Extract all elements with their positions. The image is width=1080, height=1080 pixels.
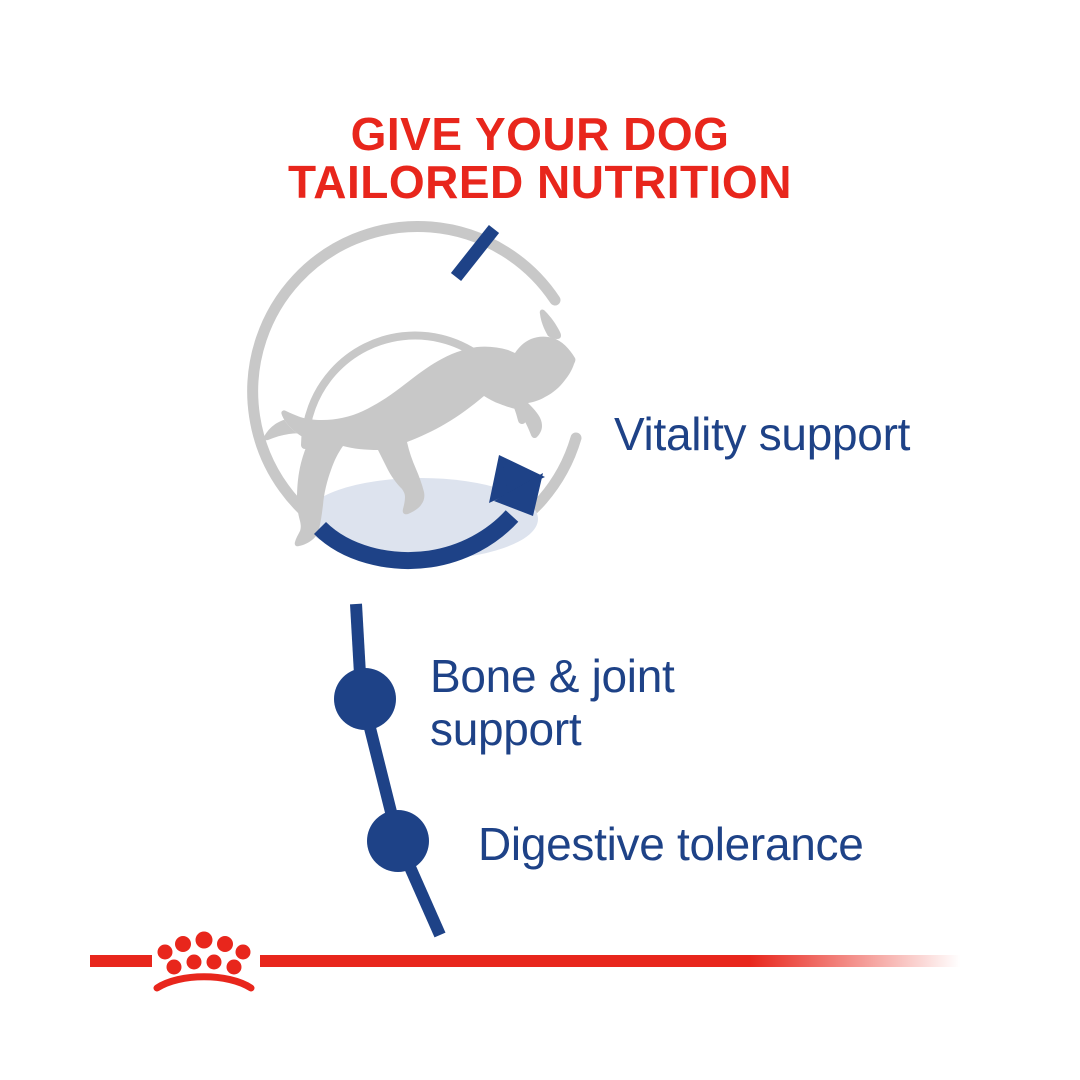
connector-dot-digestive <box>367 810 429 872</box>
benefit-connector-line <box>334 604 440 935</box>
illustration-artwork <box>0 0 1080 1080</box>
royal-canin-crown-icon <box>157 932 251 989</box>
connector-dot-bone <box>334 668 396 730</box>
footer-brand-bar <box>0 930 1080 1000</box>
benefit-label-vitality: Vitality support <box>614 408 910 461</box>
footer-rule-right <box>260 955 960 967</box>
benefit-label-bone-joint: Bone & joint support <box>430 650 674 756</box>
benefit-label-digestive: Digestive tolerance <box>478 818 864 871</box>
poster-canvas: GIVE YOUR DOG TAILORED NUTRITION <box>0 0 1080 1080</box>
footer-rule-left <box>90 955 152 967</box>
